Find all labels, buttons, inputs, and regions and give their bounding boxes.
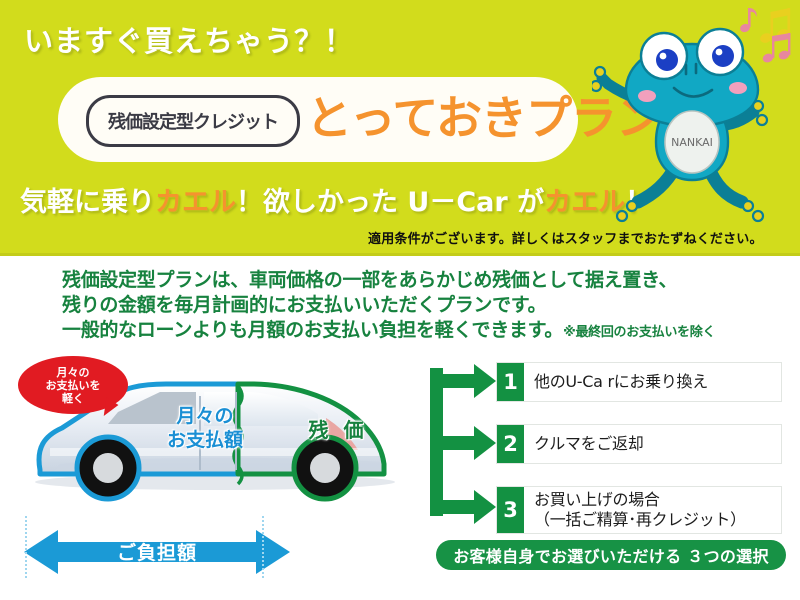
option-text-2: クルマをご返却 xyxy=(524,425,781,463)
bubble-line-1: 月々の xyxy=(57,366,90,379)
mascot-belly-label: NANKAI xyxy=(671,136,713,149)
option-text-3: お買い上げの場合 （一括ご精算･再クレジット） xyxy=(524,487,781,533)
option-3-line-1: お買い上げの場合 xyxy=(534,490,781,510)
choices-footer-pill[interactable]: お客様自身でお選びいただける ３つの選択 xyxy=(436,540,786,570)
residual-value-label: 残 価 xyxy=(283,414,393,443)
arrow-guide-right xyxy=(262,516,264,578)
arrow-guide-left xyxy=(25,516,27,578)
tagline-part1: 気軽に乗り xyxy=(20,187,155,218)
headline-text: いますぐ買えちゃう？！ xyxy=(24,18,354,60)
tagline-part2: ！欲しかった U－Car が xyxy=(236,187,544,218)
description-line-3-main: 一般的なローンよりも月額のお支払い負担を軽くできます。 xyxy=(62,319,563,341)
option-1-line-1: 他のU-Ca rにお乗り換え xyxy=(534,372,781,392)
option-row-3[interactable]: 3 お買い上げの場合 （一括ご精算･再クレジット） xyxy=(496,486,782,534)
bubble-line-2: お支払いを xyxy=(46,379,101,392)
option-number-1: 1 xyxy=(497,363,524,401)
tagline-text: 気軽に乗りカエル！欲しかった U－Car がカエル！ xyxy=(20,180,652,219)
frog-mascot-icon: NANKAI xyxy=(592,8,792,228)
monthly-payment-line-2: お支払額 xyxy=(140,428,270,452)
option-row-1[interactable]: 1 他のU-Ca rにお乗り換え xyxy=(496,362,782,402)
options-panel: 1 他のU-Ca rにお乗り換え 2 クルマをご返却 3 お買い上げの場合 （一… xyxy=(430,360,790,600)
burden-amount-arrow: ご負担額 xyxy=(24,524,290,580)
header-divider xyxy=(0,253,800,256)
tagline-kaeru-1: カエル xyxy=(155,187,236,218)
option-text-1: 他のU-Ca rにお乗り換え xyxy=(524,363,781,401)
option-number-2: 2 xyxy=(497,425,524,463)
option-2-line-1: クルマをご返却 xyxy=(534,434,781,454)
description-line-2: 残りの金額を毎月計画的にお支払いいただくプランです。 xyxy=(62,293,782,318)
plan-title-pill: 残価設定型クレジット とっておきプラン xyxy=(58,77,578,162)
option-row-2[interactable]: 2 クルマをご返却 xyxy=(496,424,782,464)
advertisement-page: いますぐ買えちゃう？！ 残価設定型クレジット とっておきプラン 気軽に乗りカエル… xyxy=(0,0,800,600)
bubble-line-3: 軽く xyxy=(62,392,84,405)
description-line-3: 一般的なローンよりも月額のお支払い負担を軽くできます。※最終回のお支払いを除く xyxy=(62,318,782,345)
monthly-payment-line-1: 月々の xyxy=(140,404,270,428)
burden-amount-label: ご負担額 xyxy=(24,538,290,565)
bubble-tail xyxy=(104,397,120,418)
credit-type-badge: 残価設定型クレジット xyxy=(86,95,300,147)
monthly-payment-label: 月々の お支払額 xyxy=(140,404,270,452)
option-3-line-2: （一括ご精算･再クレジット） xyxy=(534,510,781,530)
description-note: ※最終回のお支払いを除く xyxy=(563,325,715,340)
description-line-1: 残価設定型プランは、車両価格の一部をあらかじめ残価として据え置き、 xyxy=(62,268,782,293)
description-block: 残価設定型プランは、車両価格の一部をあらかじめ残価として据え置き、 残りの金額を… xyxy=(62,268,782,345)
option-number-3: 3 xyxy=(497,487,524,533)
disclaimer-text: 適用条件がございます。詳しくはスタッフまでおたずねください。 xyxy=(368,228,763,247)
header-banner: いますぐ買えちゃう？！ 残価設定型クレジット とっておきプラン 気軽に乗りカエル… xyxy=(0,0,800,256)
